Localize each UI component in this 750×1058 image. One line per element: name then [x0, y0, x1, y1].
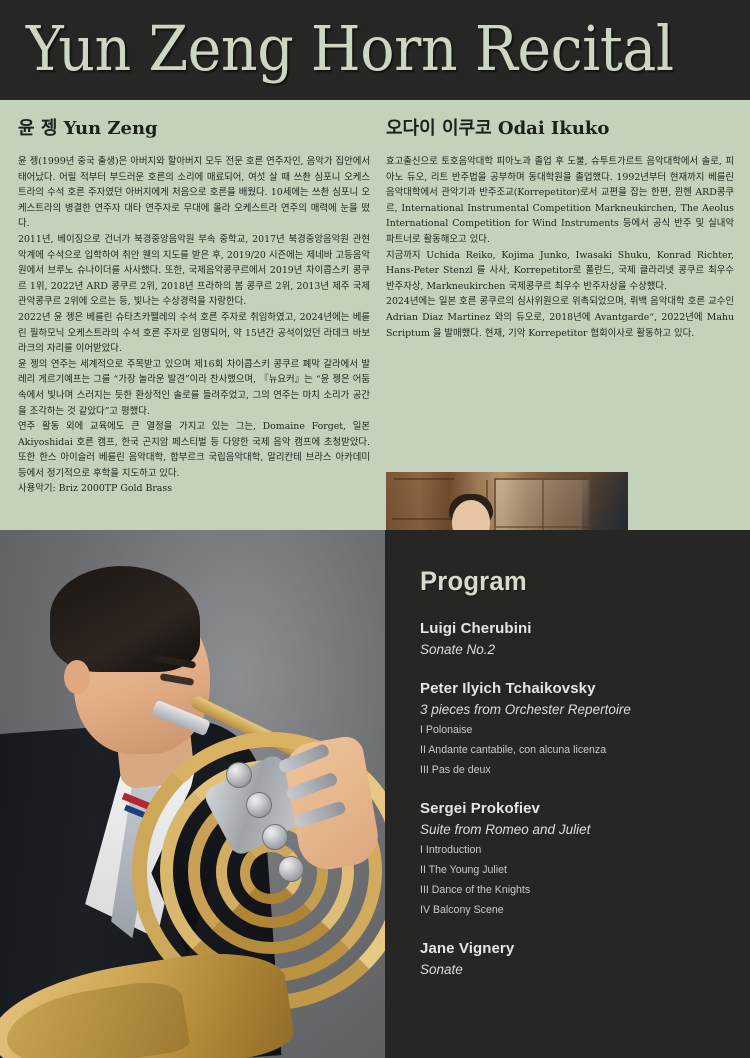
- composer-name: Jane Vignery: [420, 938, 740, 959]
- bio-paragraph: 2024년에는 일본 호른 콩쿠르의 심사위원으로 위촉되었으며, 뤼백 음악대…: [386, 294, 734, 341]
- cabinet-detail: [392, 518, 456, 520]
- horn-player-photo: [0, 530, 385, 1058]
- page-title: Yun Zeng Horn Recital: [26, 6, 674, 92]
- lower-section: Program Luigi Cherubini Sonate No.2 Pete…: [0, 530, 750, 1058]
- program-list: Luigi Cherubini Sonate No.2 Peter Ilyich…: [420, 618, 740, 998]
- movement-item: II The Young Juliet: [420, 861, 740, 880]
- program-entry: Peter Ilyich Tchaikovsky 3 pieces from O…: [420, 678, 740, 780]
- poster-root: Yun Zeng Horn Recital 윤 젱 Yun Zeng 윤 젱(1…: [0, 0, 750, 1058]
- bio-paragraph: 2022년 윤 젱은 베를린 슈타츠카펠레의 수석 호른 주자로 취임하였고, …: [18, 310, 370, 357]
- movement-item: III Pas de deux: [420, 761, 740, 780]
- instrument-note: 사용악기: Briz 2000TP Gold Brass: [18, 481, 370, 497]
- horn-rotary-valve: [262, 824, 288, 850]
- movement-item: III Dance of the Knights: [420, 881, 740, 900]
- bio-text-odai-ikuko: 효고출신으로 토호음악대학 피아노과 졸업 후 도불, 슈투트가르트 음악대학에…: [386, 154, 734, 341]
- cabinet-detail: [394, 478, 454, 480]
- bio-paragraph: 윤 젱(1999년 중국 출생)은 아버지와 할아버지 모두 전문 호른 연주자…: [18, 154, 370, 232]
- movement-item: IV Balcony Scene: [420, 901, 740, 920]
- program-panel: Program Luigi Cherubini Sonate No.2 Pete…: [385, 530, 750, 1058]
- horn-rotary-valve: [246, 792, 272, 818]
- bio-text-yun-zeng: 윤 젱(1999년 중국 출생)은 아버지와 할아버지 모두 전문 호른 연주자…: [18, 154, 370, 497]
- work-title: Sonate: [420, 960, 740, 980]
- movement-item: II Andante cantabile, con alcuna licenza: [420, 741, 740, 760]
- program-entry: Sergei Prokofiev Suite from Romeo and Ju…: [420, 798, 740, 920]
- movement-item: I Polonaise: [420, 721, 740, 740]
- composer-name: Sergei Prokofiev: [420, 798, 740, 819]
- composer-name: Luigi Cherubini: [420, 618, 740, 639]
- program-entry: Jane Vignery Sonate: [420, 938, 740, 980]
- bio-paragraph: 윤 젱의 연주는 세계적으로 주목받고 있으며 제16회 차이콥스키 콩쿠르 폐…: [18, 357, 370, 419]
- bio-column-odai-ikuko: 오다이 이쿠코 Odai Ikuko 효고출신으로 토호음악대학 피아노과 졸업…: [386, 100, 734, 530]
- program-heading: Program: [420, 566, 527, 597]
- bio-paragraph: 효고출신으로 토호음악대학 피아노과 졸업 후 도불, 슈투트가르트 음악대학에…: [386, 154, 734, 248]
- work-title: Suite from Romeo and Juliet: [420, 820, 740, 840]
- biography-band: 윤 젱 Yun Zeng 윤 젱(1999년 중국 출생)은 아버지와 할아버지…: [0, 100, 750, 530]
- horn-rotary-valve: [226, 762, 252, 788]
- bio-heading-yun-zeng: 윤 젱 Yun Zeng: [18, 100, 370, 154]
- bio-paragraph: 2011년, 베이징으로 건너가 북경중앙음악원 부속 중학교, 2017년 북…: [18, 232, 370, 310]
- ear: [64, 660, 90, 694]
- hair: [50, 566, 200, 672]
- composer-name: Peter Ilyich Tchaikovsky: [420, 678, 740, 699]
- bio-paragraph: 지금까지 Uchida Reiko, Kojima Junko, Iwasaki…: [386, 248, 734, 295]
- poster-header: Yun Zeng Horn Recital: [0, 0, 750, 100]
- work-title: 3 pieces from Orchester Repertoire: [420, 700, 740, 720]
- bio-paragraph: 연주 활동 외에 교육에도 큰 열정을 가지고 있는 그는, Domaine F…: [18, 419, 370, 481]
- bio-heading-odai-ikuko: 오다이 이쿠코 Odai Ikuko: [386, 100, 734, 154]
- program-entry: Luigi Cherubini Sonate No.2: [420, 618, 740, 660]
- movement-item: I Introduction: [420, 841, 740, 860]
- horn-rotary-valve: [278, 856, 304, 882]
- work-title: Sonate No.2: [420, 640, 740, 660]
- bio-column-yun-zeng: 윤 젱 Yun Zeng 윤 젱(1999년 중국 출생)은 아버지와 할아버지…: [18, 100, 370, 530]
